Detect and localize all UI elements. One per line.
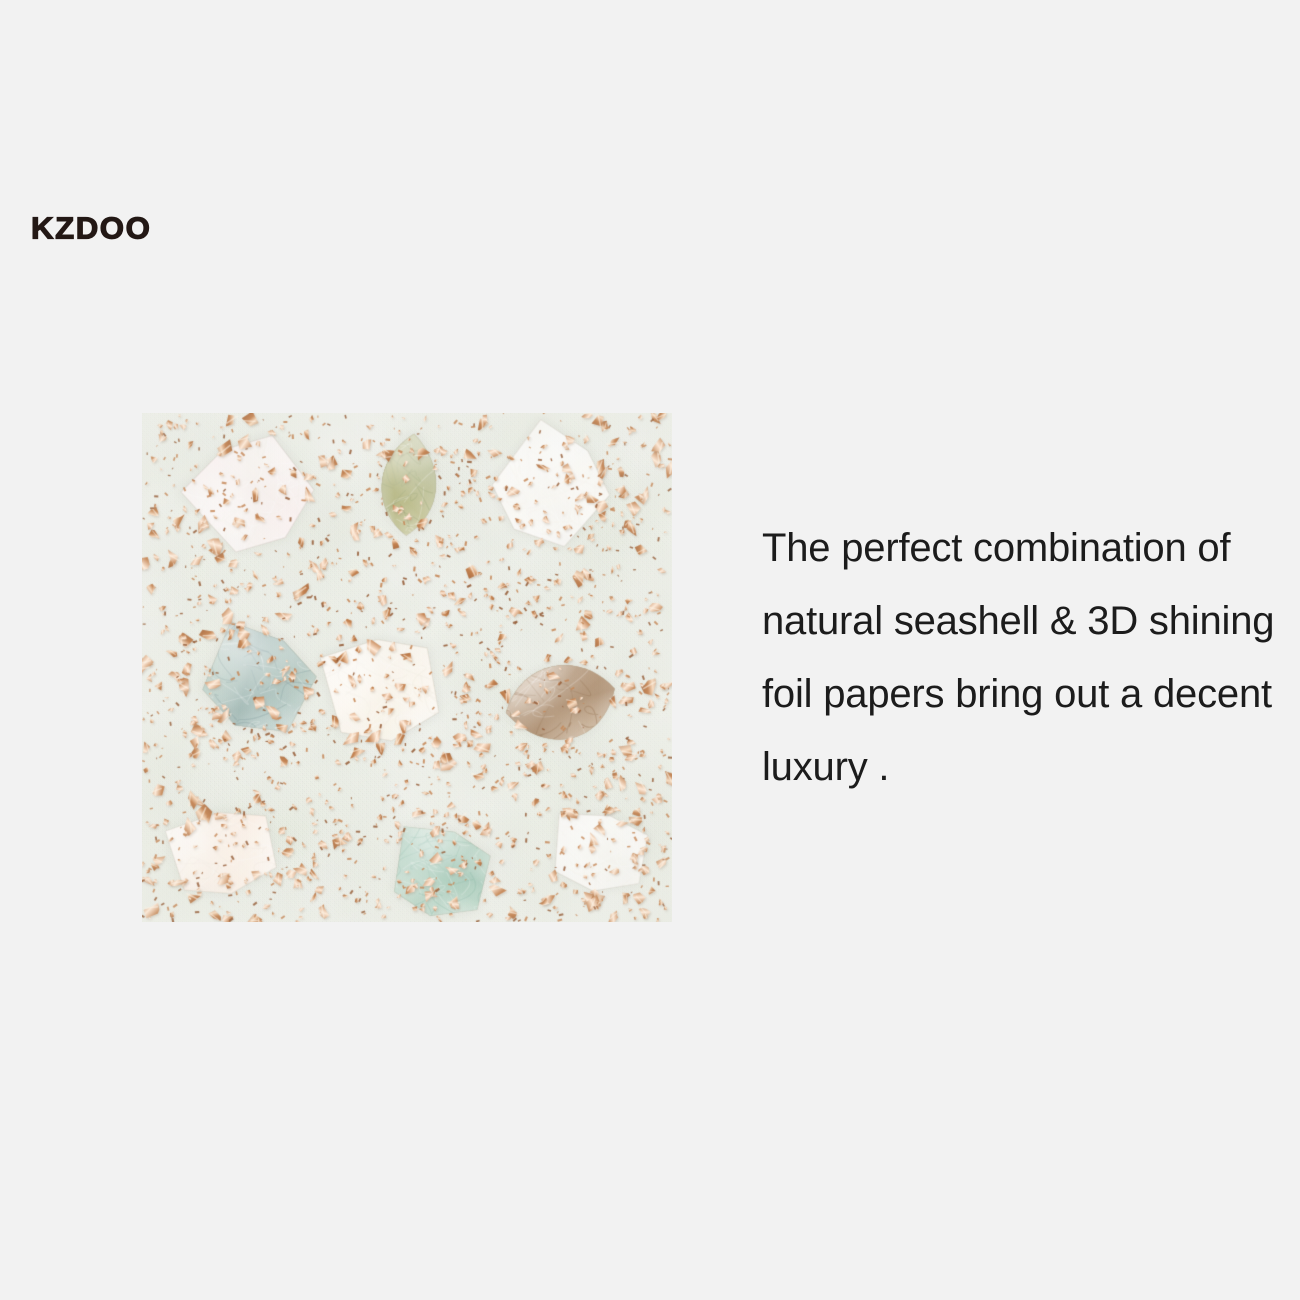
product-photo — [142, 413, 672, 922]
brand-logo: KZDOO — [31, 214, 151, 245]
page-root: KZDOO The perfect combination of natural… — [0, 0, 1300, 1300]
marketing-headline: The perfect combination of natural seash… — [762, 512, 1282, 804]
product-photo-canvas — [142, 413, 672, 922]
